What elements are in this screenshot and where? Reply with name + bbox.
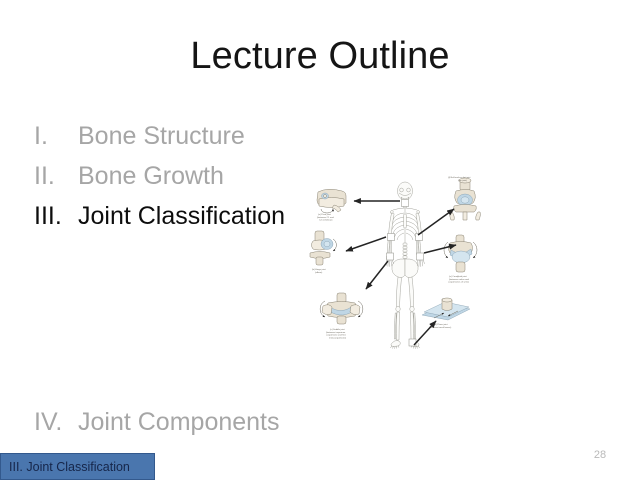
hinge-joint-caption: (b) Hinge joint <box>312 268 326 271</box>
section-banner-label: III. Joint Classification <box>9 460 130 474</box>
outline-numeral: I. <box>34 116 78 156</box>
svg-text:metacarpal bone): metacarpal bone) <box>329 336 346 339</box>
page-title: Lecture Outline <box>0 33 640 79</box>
svg-text:(elbow): (elbow) <box>315 272 322 274</box>
outline-numeral: IV. <box>34 402 78 442</box>
callout-box-wrist <box>417 253 424 260</box>
outline-list: I. Bone Structure II. Bone Growth III. J… <box>34 116 334 236</box>
outline-item-label: Bone Growth <box>78 156 224 196</box>
outline-item-label: Joint Classification <box>78 196 285 236</box>
svg-text:C2 vertebrae): C2 vertebrae) <box>319 219 333 222</box>
outline-item-joint-components[interactable]: IV. Joint Components <box>34 402 354 442</box>
page-number: 28 <box>588 448 612 462</box>
ball-and-socket-caption: (f) Ball-and-socket joint <box>448 176 471 179</box>
callout-box-thumb <box>387 253 394 260</box>
section-banner[interactable]: III. Joint Classification <box>0 453 155 480</box>
outline-item-joint-classification[interactable]: III. Joint Classification <box>34 196 334 236</box>
outline-item-bone-structure[interactable]: I. Bone Structure <box>34 116 334 156</box>
outline-item-bone-growth[interactable]: II. Bone Growth <box>34 156 334 196</box>
svg-text:carpal bone and first: carpal bone and first <box>326 334 346 337</box>
callout-box-neck <box>402 200 409 207</box>
pivot-joint-caption-line1: (a) Pivot joint <box>318 213 331 216</box>
outline-numeral: II. <box>34 156 78 196</box>
svg-text:(between radius and: (between radius and <box>449 278 470 281</box>
svg-text:(between trapezium: (between trapezium <box>326 331 345 334</box>
svg-text:carpal bones of wrist): carpal bones of wrist) <box>448 281 469 284</box>
condyloid-joint-caption: (e) Condyloid joint <box>449 275 467 278</box>
svg-text:(between C1 and: (between C1 and <box>317 216 334 219</box>
outline-item-label: Bone Structure <box>78 116 245 156</box>
synovial-joint-types-diagram: .bone { fill:#e9e2d3; stroke:#8a8474; st… <box>308 173 504 373</box>
svg-text:(between tarsal bones): (between tarsal bones) <box>429 326 452 329</box>
plane-joint-caption: (d) Plane joint <box>434 323 448 326</box>
svg-text:(hip joint): (hip joint) <box>458 179 467 182</box>
saddle-joint-caption: (c) Saddle joint <box>330 328 345 331</box>
outline-item-label: Joint Components <box>78 402 280 442</box>
outline-numeral: III. <box>34 196 78 236</box>
callout-box-elbow <box>388 234 395 241</box>
